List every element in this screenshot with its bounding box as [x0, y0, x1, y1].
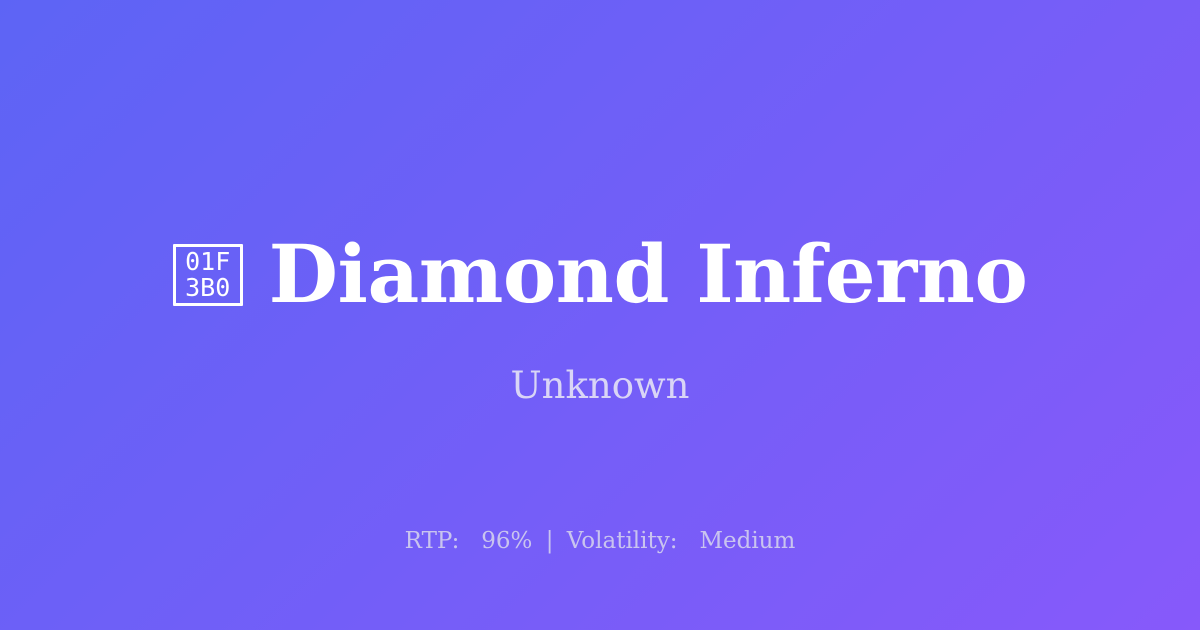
rtp-label: RTP: [405, 528, 460, 554]
slot-machine-icon-hex-bottom: 3B0 [185, 275, 230, 301]
provider-subtitle: Unknown [0, 362, 1200, 410]
volatility-value: Medium [699, 528, 795, 554]
title-row: 01F 3B0 Diamond Inferno [0, 222, 1200, 326]
slot-machine-icon-hex-top: 01F [185, 249, 230, 275]
slot-machine-icon: 01F 3B0 [173, 244, 243, 306]
game-stats-line: RTP: 96% | Volatility: Medium [0, 524, 1200, 558]
volatility-label: Volatility: [567, 528, 678, 554]
og-preview-card: 01F 3B0 Diamond Inferno Unknown RTP: 96%… [0, 0, 1200, 630]
page-title: Diamond Inferno [269, 230, 1028, 318]
rtp-value: 96% [481, 528, 532, 554]
stats-separator: | [540, 528, 560, 554]
